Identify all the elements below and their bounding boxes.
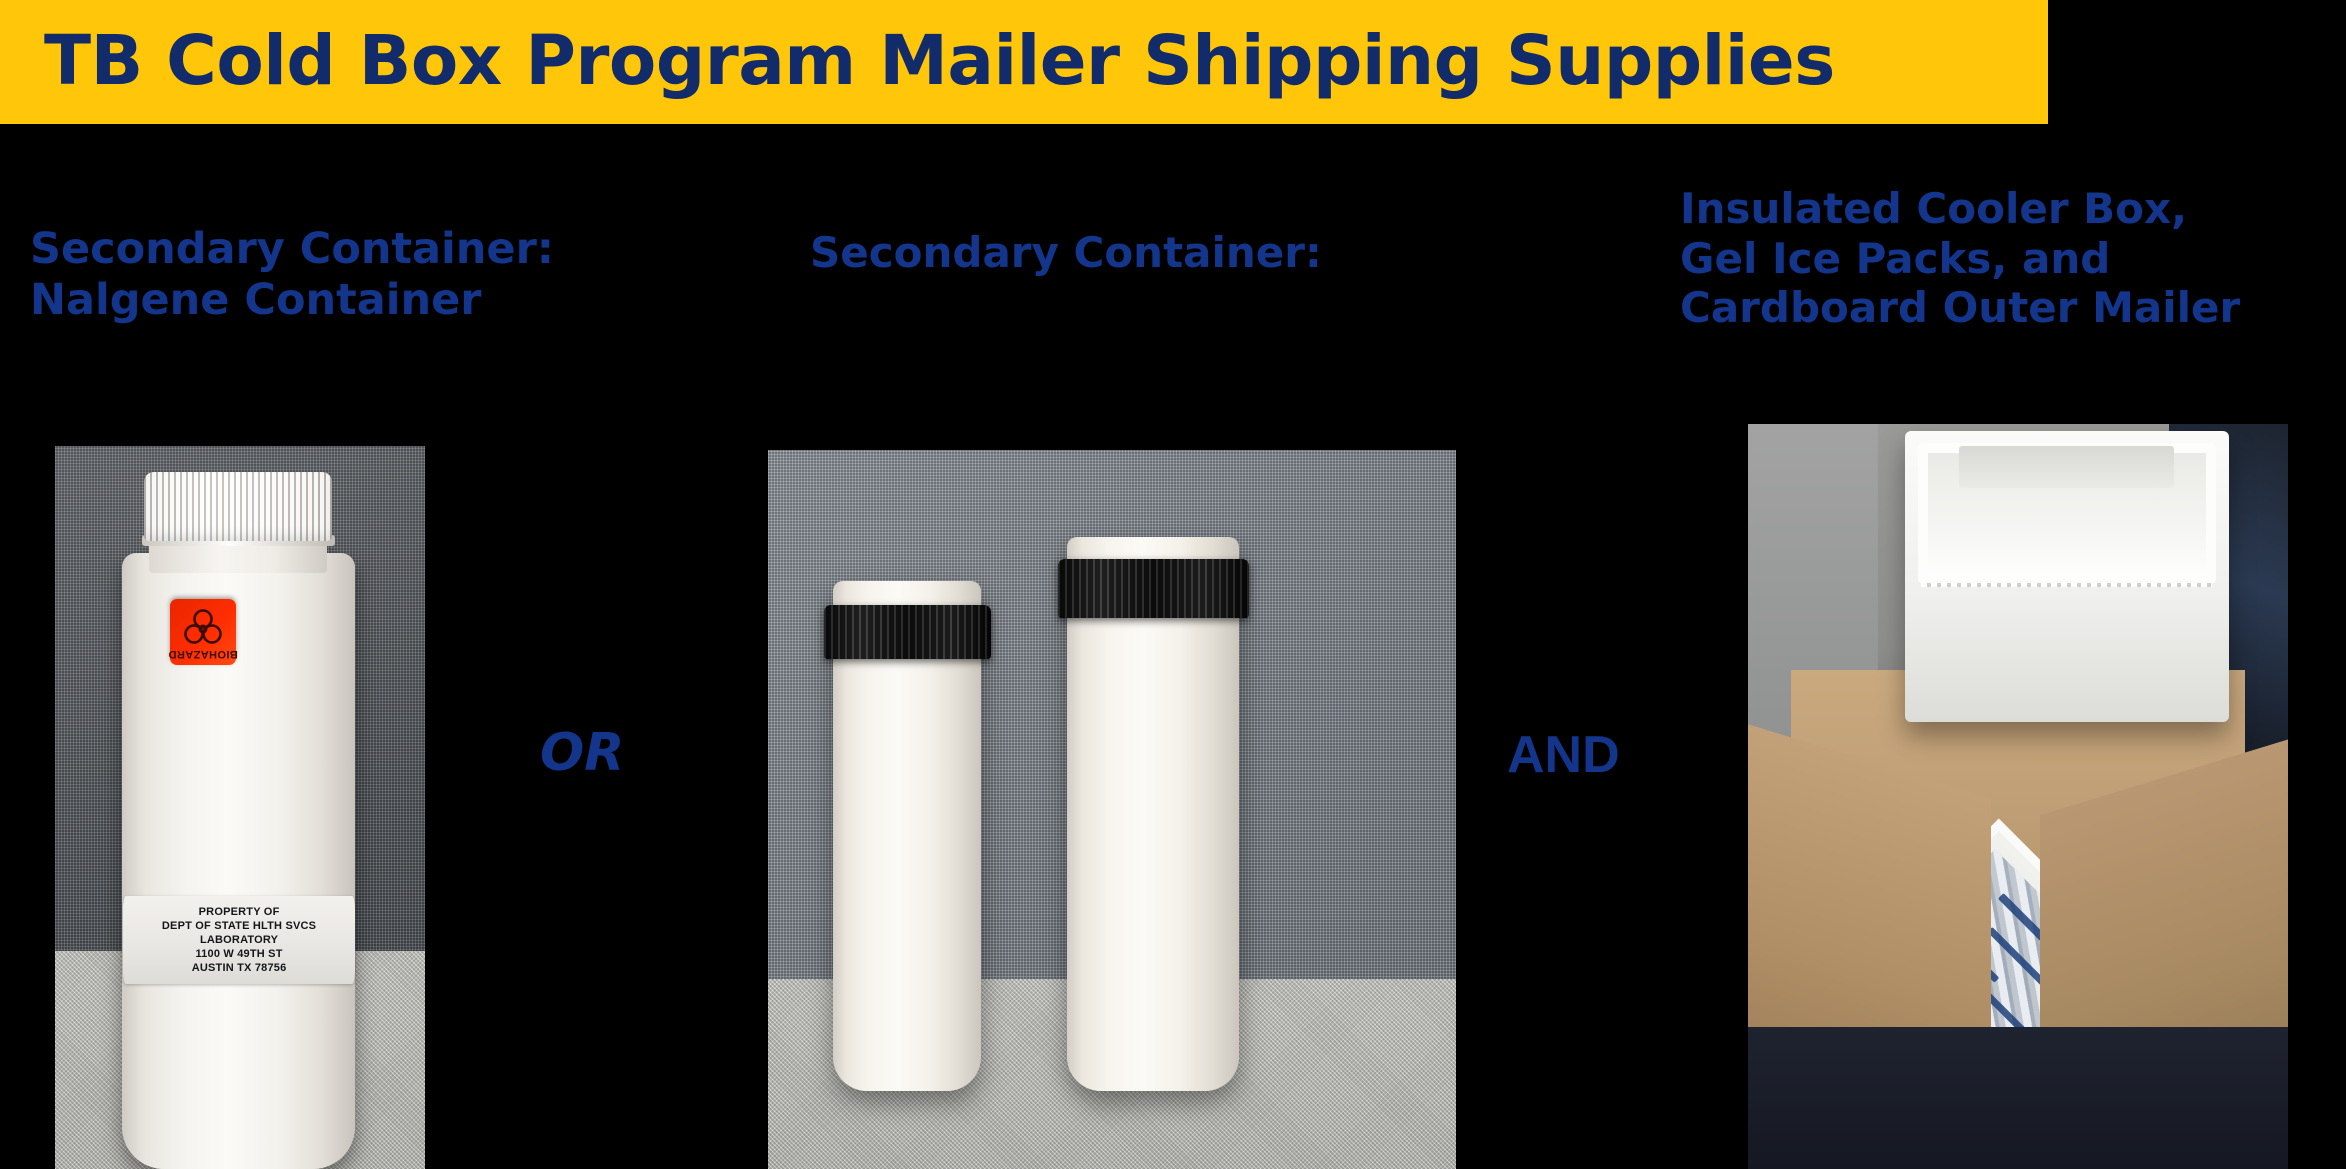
cooler-box-cavity xyxy=(1959,446,2174,488)
photo-black-cap-bottles xyxy=(768,450,1456,1169)
column-heading-right: Insulated Cooler Box, Gel Ice Packs, and… xyxy=(1680,184,2240,333)
title-banner: TB Cold Box Program Mailer Shipping Supp… xyxy=(0,0,2048,124)
cooler-box-rim xyxy=(1918,443,2216,582)
property-label-line: DEPT OF STATE HLTH SVCS xyxy=(162,920,316,932)
bottle-right-body xyxy=(1067,537,1239,1091)
photo-cooler-box-and-mailer xyxy=(1748,424,2288,1169)
property-label: PROPERTY OF DEPT OF STATE HLTH SVCS LABO… xyxy=(123,896,354,984)
property-label-line: LABORATORY xyxy=(200,934,278,946)
property-label-line: PROPERTY OF xyxy=(199,906,280,918)
cooler-box-seam xyxy=(1921,583,2213,587)
biohazard-icon xyxy=(182,607,224,647)
column-heading-left: Secondary Container: Nalgene Container xyxy=(30,224,554,325)
connector-and: AND xyxy=(1507,725,1620,785)
styrofoam-cooler-box xyxy=(1905,431,2229,722)
bottle-right-black-cap xyxy=(1058,559,1249,618)
column-heading-middle: Secondary Container: xyxy=(810,228,1322,278)
property-label-line: AUSTIN TX 78756 xyxy=(192,962,287,974)
floor-shadow xyxy=(1748,1027,2288,1169)
biohazard-label-text: BIOHAZARD xyxy=(168,648,238,660)
connector-or: OR xyxy=(540,723,624,783)
property-label-line: 1100 W 49TH ST xyxy=(195,948,282,960)
photo-nalgene-container: BIOHAZARD PROPERTY OF DEPT OF STATE HLTH… xyxy=(55,446,425,1169)
nalgene-bottle-body xyxy=(122,553,355,1169)
bottle-left-black-cap xyxy=(824,605,990,660)
biohazard-sticker: BIOHAZARD xyxy=(170,599,236,665)
nalgene-screw-cap xyxy=(144,472,333,541)
page-title: TB Cold Box Program Mailer Shipping Supp… xyxy=(44,16,1835,106)
